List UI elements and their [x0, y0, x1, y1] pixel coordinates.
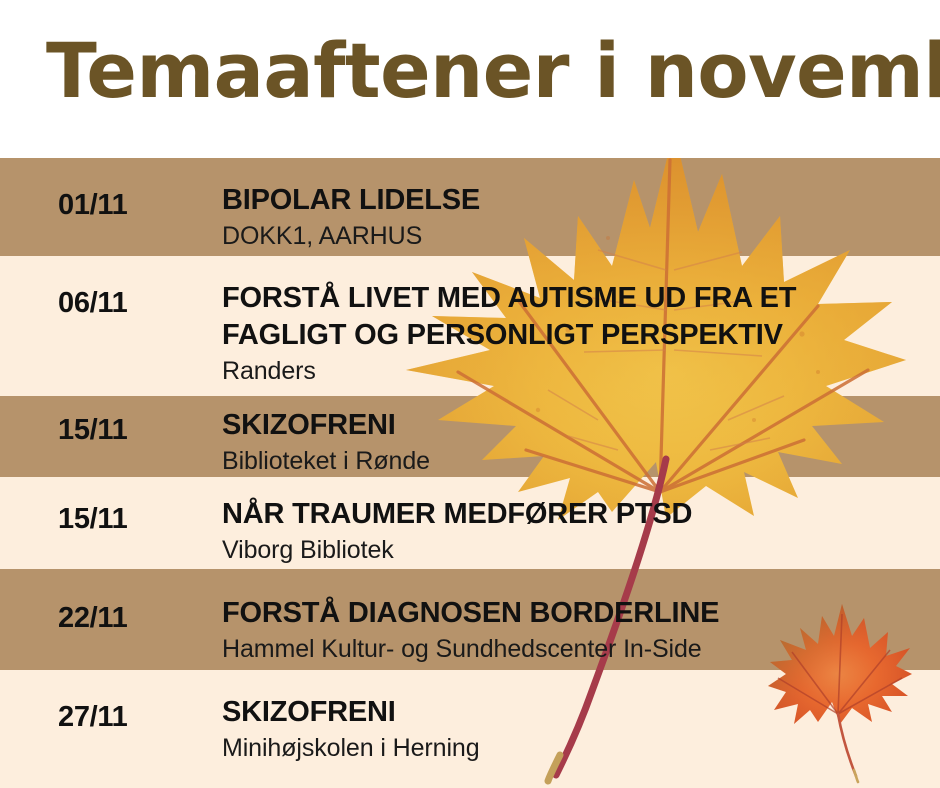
event-date: 06/11 [58, 286, 208, 320]
event-venue: Viborg Bibliotek [222, 534, 930, 566]
event-content: SKIZOFRENI Biblioteket i Rønde [222, 407, 930, 477]
event-date: 15/11 [58, 502, 208, 536]
event-title: FORSTÅ DIAGNOSEN BORDERLINE [222, 595, 930, 632]
event-venue: DOKK1, AARHUS [222, 220, 930, 252]
event-title: SKIZOFRENI [222, 694, 930, 731]
event-venue: Randers [222, 355, 930, 387]
event-title: FORSTÅ LIVET MED AUTISME UD FRA ET [222, 280, 930, 317]
event-row: 15/11 NÅR TRAUMER MEDFØRER PTSD Viborg B… [0, 477, 940, 569]
event-venue: Minihøjskolen i Herning [222, 732, 930, 764]
event-title: SKIZOFRENI [222, 407, 930, 444]
event-venue: Biblioteket i Rønde [222, 445, 930, 477]
event-title: NÅR TRAUMER MEDFØRER PTSD [222, 496, 930, 533]
event-date: 22/11 [58, 601, 208, 635]
event-title-line2: FAGLIGT OG PERSONLIGT PERSPEKTIV [222, 317, 930, 354]
event-row: 22/11 FORSTÅ DIAGNOSEN BORDERLINE Hammel… [0, 569, 940, 670]
event-content: SKIZOFRENI Minihøjskolen i Herning [222, 694, 930, 764]
event-content: FORSTÅ DIAGNOSEN BORDERLINE Hammel Kultu… [222, 595, 930, 665]
event-row: 06/11 FORSTÅ LIVET MED AUTISME UD FRA ET… [0, 256, 940, 396]
event-title: BIPOLAR LIDELSE [222, 182, 930, 219]
event-row: 01/11 BIPOLAR LIDELSE DOKK1, AARHUS [0, 158, 940, 256]
poster-header: Temaaftener i november [0, 0, 940, 158]
event-content: FORSTÅ LIVET MED AUTISME UD FRA ET FAGLI… [222, 280, 930, 387]
event-content: BIPOLAR LIDELSE DOKK1, AARHUS [222, 182, 930, 252]
event-date: 01/11 [58, 188, 208, 222]
event-row: 15/11 SKIZOFRENI Biblioteket i Rønde [0, 396, 940, 477]
event-row: 27/11 SKIZOFRENI Minihøjskolen i Herning [0, 670, 940, 788]
page-title: Temaaftener i november [46, 28, 940, 114]
event-content: NÅR TRAUMER MEDFØRER PTSD Viborg Bibliot… [222, 496, 930, 566]
event-date: 27/11 [58, 700, 208, 734]
event-venue: Hammel Kultur- og Sundhedscenter In-Side [222, 633, 930, 665]
poster-canvas: 01/11 BIPOLAR LIDELSE DOKK1, AARHUS 06/1… [0, 0, 940, 788]
event-date: 15/11 [58, 413, 208, 447]
